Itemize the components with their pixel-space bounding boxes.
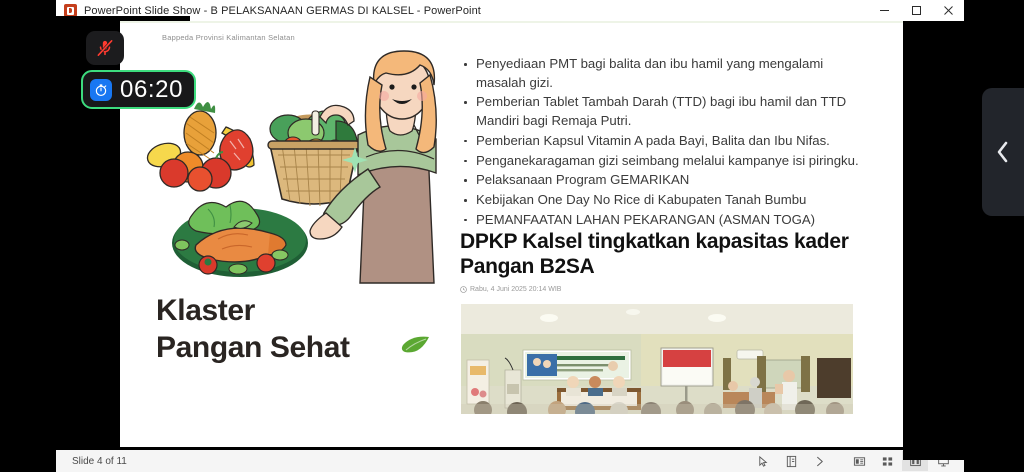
seminar-room-photo [461,304,853,414]
news-article-block: DPKP Kalsel tingkatkan kapasitas kader P… [460,230,860,293]
chevron-right-icon [813,455,826,468]
side-panel-toggle[interactable] [982,88,1024,216]
list-item: Kebijakan One Day No Rice di Kabupaten T… [460,191,860,210]
notes-button[interactable] [778,451,804,471]
stopwatch-icon [90,79,112,101]
presentation-timer[interactable]: 06:20 [81,70,196,109]
minimize-icon[interactable] [868,0,900,21]
all-slides-button[interactable] [874,451,900,471]
microphone-muted-icon [95,38,115,58]
list-item: Pemberian Tablet Tambah Darah (TTD) bagi… [460,93,860,130]
notes-icon [785,455,798,468]
window-controls [868,0,964,21]
news-timestamp: Rabu, 4 Juni 2025 20:14 WIB [470,286,561,293]
chevron-left-icon [994,139,1012,165]
presentation-slide[interactable]: Bappeda Provinsi Kalimantan Selatan [120,21,903,447]
bullet-list: Penyediaan PMT bagi balita dan ibu hamil… [460,55,860,230]
presenter-view-icon [853,455,866,468]
clock-icon [460,286,467,293]
window-title: PowerPoint Slide Show - B PELAKSANAAN GE… [84,5,481,17]
close-icon[interactable] [932,0,964,21]
list-item: PEMANFAATAN LAHAN PEKARANGAN (ASMAN TOGA… [460,211,860,230]
list-item: Penyediaan PMT bagi balita dan ibu hamil… [460,55,860,92]
screen-occlusion-block-bottom [903,447,964,460]
news-meta: Rabu, 4 Juni 2025 20:14 WIB [460,286,860,293]
bullet-list-container: Penyediaan PMT bagi balita dan ibu hamil… [460,55,860,231]
presenter-view-button[interactable] [846,451,872,471]
timer-value: 06:20 [120,76,183,104]
slide-top-accent-line [120,21,903,23]
list-item: Pelaksanaan Program GEMARIKAN [460,171,860,190]
slide-header-label: Bappeda Provinsi Kalimantan Selatan [162,33,295,42]
leaf-icon [400,336,430,354]
news-headline: DPKP Kalsel tingkatkan kapasitas kader P… [460,230,860,280]
microphone-mute-button[interactable] [86,31,124,65]
pointer-tool-button[interactable] [750,451,776,471]
next-slide-button[interactable] [806,451,832,471]
list-item: Penganekaragaman gizi seimbang melalui k… [460,152,860,171]
slide-title-block: Klaster Pangan Sehat [156,293,456,366]
slide-title-line-1: Klaster [156,293,456,330]
slide-counter: Slide 4 of 11 [72,456,127,467]
grid-icon [881,455,894,468]
window-titlebar: PowerPoint Slide Show - B PELAKSANAAN GE… [56,0,964,21]
list-item: Pemberian Kapsul Vitamin A pada Bayi, Ba… [460,132,860,151]
pointer-icon [757,455,770,468]
slideshow-status-bar: Slide 4 of 11 [56,450,964,472]
maximize-icon[interactable] [900,0,932,21]
